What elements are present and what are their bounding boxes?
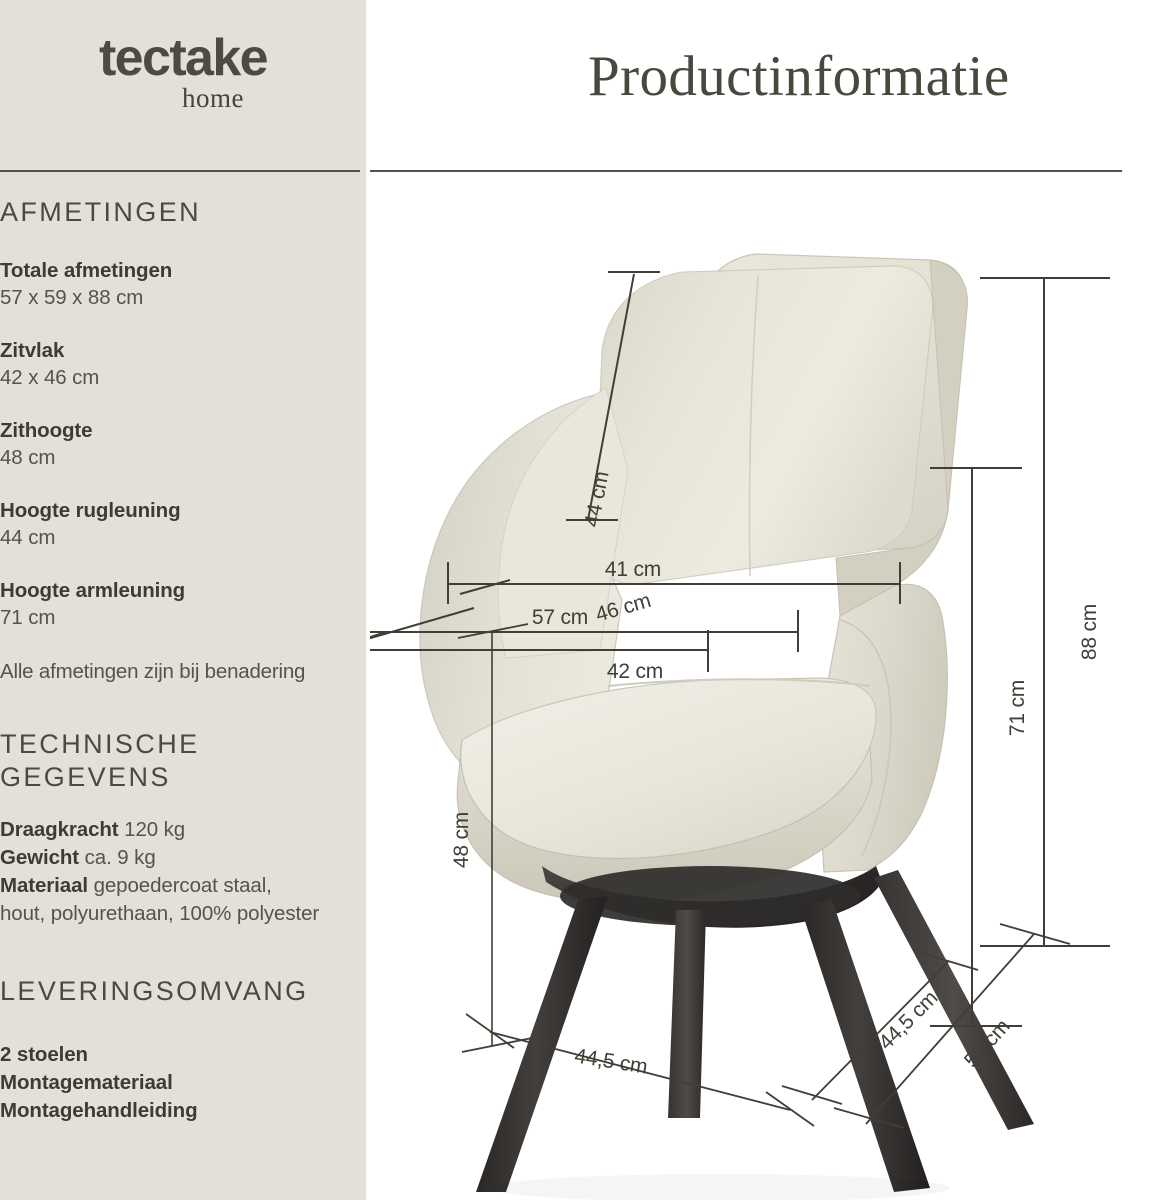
sidebar-divider: [0, 170, 360, 172]
brand-logo: tectake home: [0, 32, 366, 114]
spec-zithoogte: Zithoogte 48 cm: [0, 417, 362, 471]
dim-label-base-width: 44,5 cm: [573, 1044, 649, 1078]
dim-label-armrest-height: 71 cm: [1006, 680, 1029, 736]
tech-label: Gewicht: [0, 846, 79, 869]
spec-label: Hoogte armleuning: [0, 577, 362, 604]
delivery-item: 2 stoelen: [0, 1041, 362, 1069]
scope-of-delivery-list: 2 stoelen Montagemateriaal Montagehandle…: [0, 1041, 362, 1125]
section-heading-afmetingen: AFMETINGEN: [0, 196, 201, 229]
dim-label-total-width: 57 cm: [532, 606, 588, 629]
dim-label-back-width: 41 cm: [605, 558, 661, 581]
spec-label: Totale afmetingen: [0, 257, 362, 284]
spec-value: 57 x 59 x 88 cm: [0, 284, 362, 311]
tech-value: ca. 9 kg: [79, 846, 156, 869]
section-heading-technische-gegevens: TECHNISCHE GEGEVENS: [0, 728, 200, 795]
delivery-item: Montagehandleiding: [0, 1097, 362, 1125]
spec-hoogte-armleuning: Hoogte armleuning 71 cm: [0, 577, 362, 631]
tech-value: 120 kg: [119, 818, 186, 841]
spec-value: 71 cm: [0, 604, 362, 631]
section-heading-leveringsomvang: LEVERINGSOMVANG: [0, 975, 309, 1008]
spec-label: Zithoogte: [0, 417, 362, 444]
chair-backrest-inner: [594, 266, 933, 584]
dim-label-total-height: 88 cm: [1078, 604, 1101, 660]
tech-row-materiaal: Materiaal gepoedercoat staal,: [0, 872, 362, 900]
dim-label-seat-width: 42 cm: [607, 660, 663, 683]
brand-name: tectake: [0, 32, 366, 85]
tech-row-gewicht: Gewicht ca. 9 kg: [0, 844, 362, 872]
chair-leg-front-left: [476, 896, 608, 1192]
floor-shadow: [490, 1174, 950, 1200]
tech-value: gepoedercoat staal,: [88, 874, 272, 897]
chair-illustration: [420, 254, 1034, 1200]
tech-label: Draagkracht: [0, 818, 119, 841]
spec-value: 44 cm: [0, 524, 362, 551]
spec-hoogte-rugleuning: Hoogte rugleuning 44 cm: [0, 497, 362, 551]
technical-data-list: Draagkracht 120 kg Gewicht ca. 9 kg Mate…: [0, 816, 362, 928]
brand-subtitle: home: [0, 83, 366, 114]
dim-armrest-height: [930, 468, 1022, 1026]
product-information-sheet: tectake home AFMETINGEN Totale afmetinge…: [0, 0, 1160, 1200]
spec-zitvlak: Zitvlak 42 x 46 cm: [0, 337, 362, 391]
page-title: Productinformatie: [588, 44, 1010, 109]
delivery-item: Montagemateriaal: [0, 1069, 362, 1097]
chair-leg-rear-left: [874, 870, 1034, 1130]
tech-label: Materiaal: [0, 874, 88, 897]
dim-label-seat-height: 48 cm: [450, 812, 473, 868]
dim-label-base-depth: 44,5 cm: [874, 986, 942, 1054]
spec-totale-afmetingen: Totale afmetingen 57 x 59 x 88 cm: [0, 257, 362, 311]
header-divider: [370, 170, 1122, 172]
tech-row-draagkracht: Draagkracht 120 kg: [0, 816, 362, 844]
sidebar: tectake home AFMETINGEN Totale afmetinge…: [0, 0, 366, 1200]
spec-label: Hoogte rugleuning: [0, 497, 362, 524]
dimensions-note: Alle afmetingen zijn bij benadering: [0, 658, 305, 685]
spec-value: 42 x 46 cm: [0, 364, 362, 391]
spec-value: 48 cm: [0, 444, 362, 471]
tech-material-continuation: hout, polyurethaan, 100% polyester: [0, 900, 362, 928]
sidebar-content: tectake home AFMETINGEN Totale afmetinge…: [0, 0, 366, 1200]
spec-label: Zitvlak: [0, 337, 362, 364]
chair-dimension-diagram: 44 cm 41 cm 57 cm 46 cm 42 cm 88 cm 71 c…: [370, 180, 1160, 1200]
